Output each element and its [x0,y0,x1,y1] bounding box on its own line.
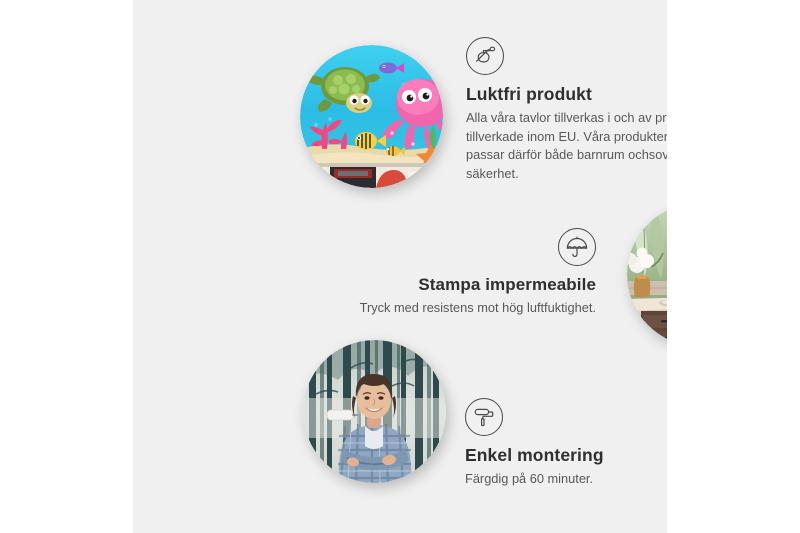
photo-woman-paint-roller-forest [303,340,446,483]
photo-kids-underwater-mural [300,45,443,188]
feature-title: Luktfri produkt [466,84,667,105]
forest-illustration [303,340,446,483]
bathroom-illustration [627,203,667,346]
feature-panel: Luktfri produkt Alla våra tavlor tillver… [133,0,667,533]
kids-underwater-illustration [300,45,443,188]
feature-waterproof-print: Stampa impermeabile Tryck med resistens … [286,228,596,318]
feature-body: Tryck med resistens mot hög luftfuktighe… [286,299,596,318]
photo-forest-image [303,340,446,483]
photo-kids-image [300,45,443,188]
umbrella-icon [558,228,596,266]
page-root: Luktfri produkt Alla våra tavlor tillver… [0,0,800,533]
photo-bathroom-botanical-mural [627,203,667,346]
photo-bathroom-image [627,203,667,346]
paint-roller-icon [465,398,503,436]
feature-body: Färgdig på 60 minuter. [465,470,667,489]
feature-title: Enkel montering [465,445,667,466]
feature-odour-free: Luktfri produkt Alla våra tavlor tillver… [466,37,667,183]
no-perfume-spray-icon [466,37,504,75]
feature-easy-mounting: Enkel montering Färgdig på 60 minuter. [465,398,667,489]
feature-title: Stampa impermeabile [286,275,596,295]
feature-body: Alla våra tavlor tillverkas i och av pro… [466,109,667,183]
